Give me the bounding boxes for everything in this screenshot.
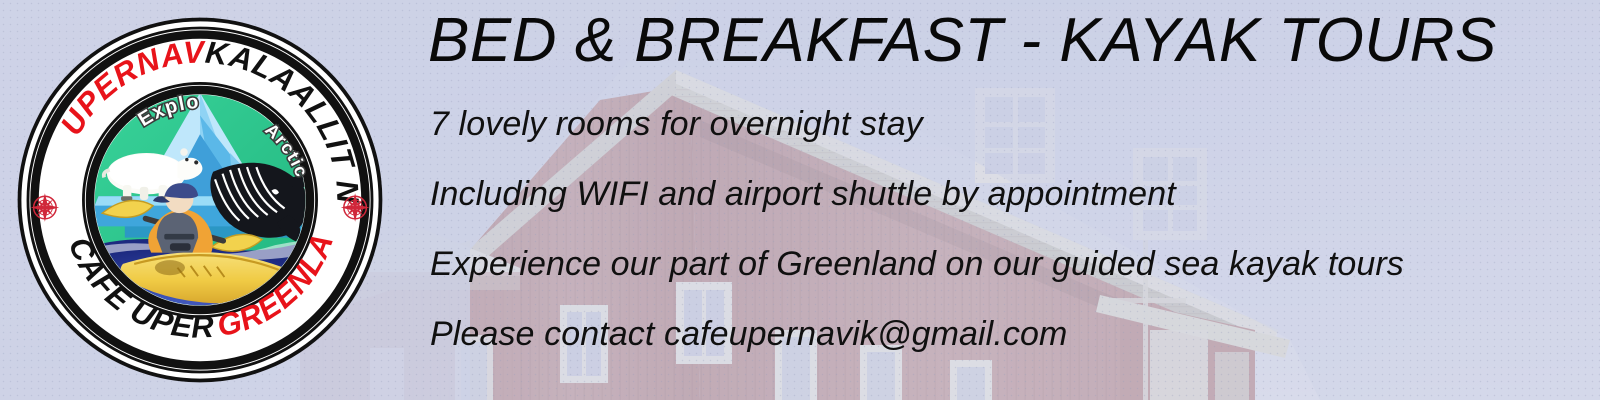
contact-email-line[interactable]: Please contact cafeupernavik@gmail.com (430, 315, 1067, 354)
tagline-tours: Experience our part of Greenland on our … (430, 245, 1404, 284)
tagline-rooms: 7 lovely rooms for overnight stay (430, 105, 923, 144)
cafe-upernavik-logo[interactable]: Explore Arctic UPERNAVIK KALAALLIT NUNAA… (12, 4, 388, 396)
tagline-amenities: Including WIFI and airport shuttle by ap… (430, 175, 1176, 214)
promo-banner: BED & BREAKFAST - KAYAK TOURS 7 lovely r… (0, 0, 1600, 400)
page-title: BED & BREAKFAST - KAYAK TOURS (428, 8, 1497, 73)
